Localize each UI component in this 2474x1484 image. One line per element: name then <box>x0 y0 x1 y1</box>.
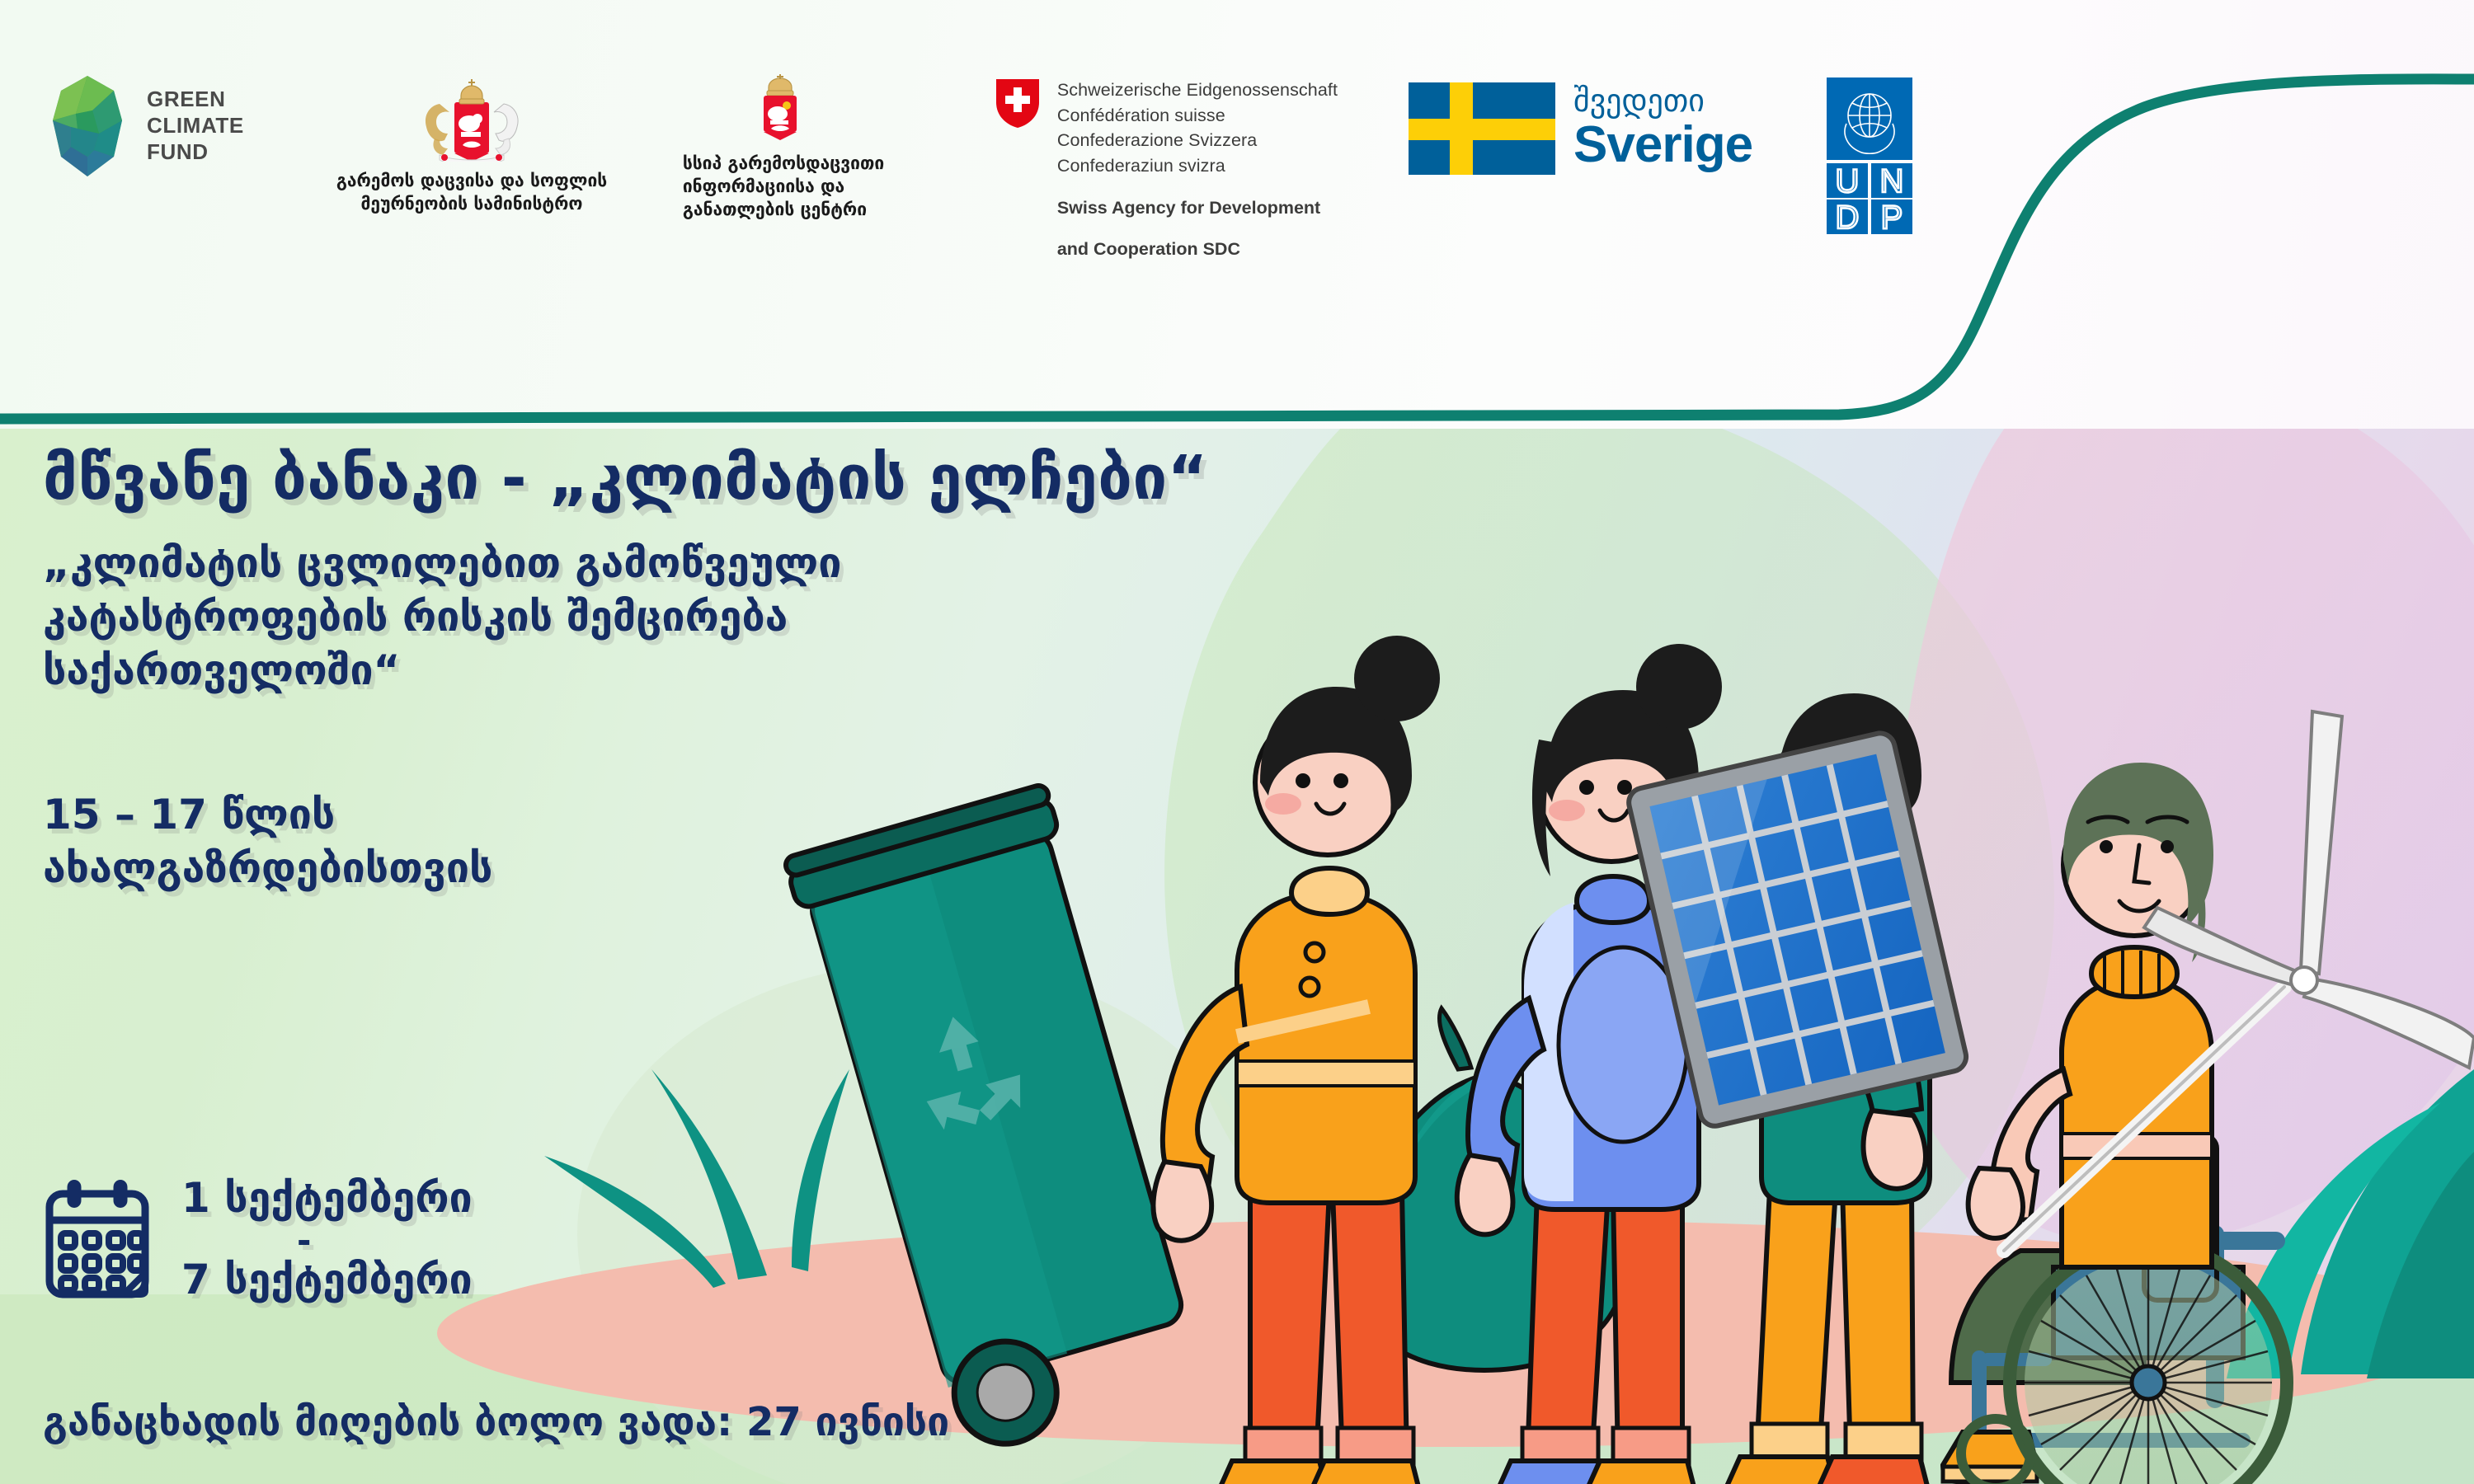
sdc-wordmark: Schweizerische Eidgenossenschaft Confédé… <box>1057 77 1338 261</box>
age-group-line-2: ახალგაზრდებისთვის <box>43 842 1208 895</box>
logo-swiss-sdc: Schweizerische Eidgenossenschaft Confédé… <box>995 74 1338 261</box>
info-centre-line-1: სსიპ გარემოსდაცვითი <box>683 152 884 175</box>
partner-logos: GREEN CLIMATE FUND <box>0 74 2062 264</box>
age-group-line-1: 15 – 17 წლის <box>43 788 1208 842</box>
ministry-wordmark: გარემოს დაცვისა და სოფლის მეურნეობის სამ… <box>336 170 607 215</box>
sdc-line-de: Schweizerische Eidgenossenschaft <box>1057 77 1338 103</box>
undp-letter-p: P <box>1881 200 1903 234</box>
sdc-line-it: Confederazione Svizzera <box>1057 128 1338 153</box>
undp-letter-n: N <box>1880 163 1904 200</box>
sweden-wordmark: შვედეთი Sverige <box>1573 85 1752 171</box>
poster-canvas: მწვანე ბანაკი - „კლიმატის ელჩები“ „კლიმა… <box>0 0 2474 1484</box>
ministry-line-1: გარემოს დაცვისა და სოფლის <box>336 170 607 193</box>
sdc-agency-line-1: Swiss Agency for Development <box>1057 196 1338 219</box>
georgia-coat-of-arms-icon <box>336 74 607 162</box>
date-separator: - <box>297 1225 473 1256</box>
main-panel: მწვანე ბანაკი - „კლიმატის ელჩები“ „კლიმა… <box>0 410 2474 1484</box>
age-group-text: 15 – 17 წლის ახალგაზრდებისთვის <box>43 788 1208 895</box>
info-centre-wordmark: სსიპ გარემოსდაცვითი ინფორმაციისა და განა… <box>676 152 884 221</box>
gcf-line-2: CLIMATE <box>147 113 244 139</box>
page-title: მწვანე ბანაკი - „კლიმატის ელჩები“ <box>43 443 1208 514</box>
georgia-shield-icon <box>676 74 884 142</box>
info-centre-line-3: განათლების ცენტრი <box>683 198 884 221</box>
logo-sweden: შვედეთი Sverige <box>1409 74 1752 175</box>
sweden-label-en: Sverige <box>1573 118 1752 171</box>
swiss-cross-icon <box>995 77 1041 129</box>
info-centre-line-2: ინფორმაციისა და <box>683 175 884 198</box>
logo-undp: U N D P <box>1827 74 1912 234</box>
sdc-agency-line-2: and Cooperation SDC <box>1057 237 1338 261</box>
dates-row: 1 სექტემბერი - 7 სექტემბერი <box>43 1176 473 1302</box>
undp-icon: U N D P <box>1827 77 1912 234</box>
undp-letter-d: D <box>1836 200 1860 234</box>
logo-ministry-of-environment: გარემოს დაცვისა და სოფლის მეურნეობის სამ… <box>336 74 642 215</box>
subtitle-line-3: საქართველოში“ <box>43 644 1208 697</box>
dates-text: 1 სექტემბერი - 7 სექტემბერი <box>181 1176 473 1302</box>
application-deadline: განაცხადის მიღების ბოლო ვადა: 27 ივნისი <box>43 1399 949 1445</box>
gcf-line-3: FUND <box>147 139 244 166</box>
logo-environmental-information-centre: სსიპ გარემოსდაცვითი ინფორმაციისა და განა… <box>676 74 948 221</box>
calendar-icon <box>43 1177 152 1301</box>
ministry-line-2: მეურნეობის სამინისტრო <box>336 193 607 216</box>
date-end: 7 სექტემბერი <box>181 1258 473 1302</box>
logo-green-climate-fund: GREEN CLIMATE FUND <box>43 74 244 178</box>
sweden-flag-icon <box>1409 82 1555 175</box>
sdc-line-rm: Confederaziun svizra <box>1057 153 1338 179</box>
sweden-label-ka: შვედეთი <box>1573 85 1752 116</box>
sdc-line-fr: Confédération suisse <box>1057 103 1338 129</box>
date-start: 1 სექტემბერი <box>181 1176 473 1220</box>
undp-letter-u: U <box>1836 163 1860 200</box>
project-subtitle: „კლიმატის ცვლილებით გამოწვეული კატასტროფ… <box>43 537 1208 697</box>
gcf-wordmark: GREEN CLIMATE FUND <box>147 87 244 165</box>
subtitle-line-1: „კლიმატის ცვლილებით გამოწვეული <box>43 537 1208 590</box>
subtitle-line-2: კატასტროფების რისკის შემცირება <box>43 590 1208 644</box>
gcf-line-1: GREEN <box>147 87 244 113</box>
gcf-gem-icon <box>43 74 132 178</box>
copy-block: მწვანე ბანაკი - „კლიმატის ელჩები“ „კლიმა… <box>43 443 1208 895</box>
